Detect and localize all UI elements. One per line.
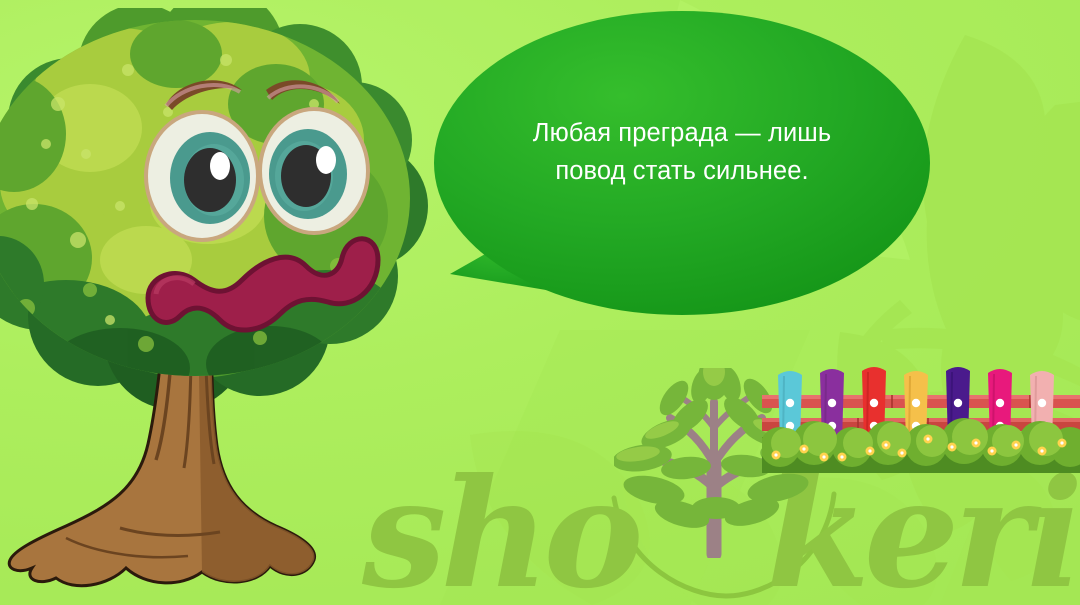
poster-canvas: Любая преграда — лишь повод стать сильне… [0,0,1080,605]
eye-highlight-left [210,152,230,180]
eye-right [258,107,370,235]
speech-bubble: Любая преграда — лишь повод стать сильне… [432,6,932,336]
eye-left [144,110,260,242]
flowering-hedge [762,418,1080,473]
quote-text: Любая преграда — лишь повод стать сильне… [472,114,892,190]
colorful-picket-fence [762,363,1080,473]
eye-highlight-right [316,146,336,174]
logo-text-left: sho [362,459,638,605]
